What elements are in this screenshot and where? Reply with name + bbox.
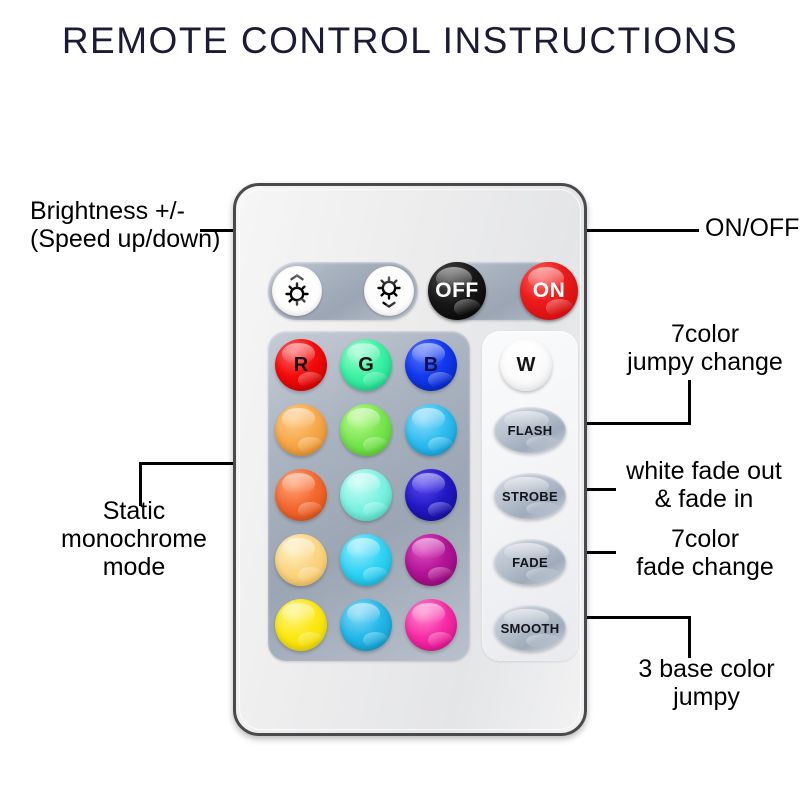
power-keypad: OFF ON	[428, 262, 578, 320]
leader-smooth-vertical	[688, 616, 691, 658]
sun-up-icon	[280, 273, 314, 309]
color-button-azure[interactable]	[405, 404, 457, 456]
color-button-b[interactable]: B	[405, 339, 457, 391]
color-button-g-label: G	[358, 354, 374, 377]
mode-keypad: W FLASH STROBE FADE SMOOTH	[482, 331, 578, 661]
color-button-yellow[interactable]	[275, 599, 327, 651]
leader-flash-vertical	[688, 380, 691, 425]
annotation-strobe: white fade out & fade in	[608, 457, 800, 513]
smooth-button[interactable]: SMOOTH	[494, 605, 566, 651]
remote-control-body: OFF ON R G B	[233, 183, 587, 736]
color-button-light-cyan[interactable]	[340, 469, 392, 521]
color-button-cyan[interactable]	[340, 534, 392, 586]
off-button[interactable]: OFF	[428, 262, 486, 320]
annotation-brightness: Brightness +/- (Speed up/down)	[30, 197, 260, 253]
annotation-fade: 7color fade change	[610, 525, 800, 581]
color-button-orange[interactable]	[275, 404, 327, 456]
smooth-button-label: SMOOTH	[501, 621, 560, 636]
annotation-smooth: 3 base color jumpy	[613, 655, 800, 711]
color-button-light-green[interactable]	[340, 404, 392, 456]
color-keypad: R G B	[268, 331, 470, 661]
annotation-static-mode: Static monochrome mode	[28, 497, 240, 581]
annotation-flash: 7color jumpy change	[610, 320, 800, 376]
color-button-magenta[interactable]	[405, 534, 457, 586]
strobe-button-label: STROBE	[502, 489, 558, 504]
flash-button[interactable]: FLASH	[494, 407, 566, 453]
instruction-diagram: REMOTE CONTROL INSTRUCTIONS Brightness +…	[0, 0, 800, 800]
brightness-up-button[interactable]	[272, 266, 322, 316]
color-button-w-label: W	[517, 354, 536, 377]
on-button-label: ON	[533, 279, 566, 303]
color-button-r-label: R	[294, 354, 308, 377]
brightness-down-button[interactable]	[364, 266, 414, 316]
strobe-button[interactable]: STROBE	[494, 473, 566, 519]
color-button-dark-blue[interactable]	[405, 469, 457, 521]
brightness-keypad	[268, 262, 418, 320]
off-button-label: OFF	[435, 279, 479, 303]
flash-button-label: FLASH	[508, 423, 553, 438]
color-button-b-label: B	[424, 354, 438, 377]
on-button[interactable]: ON	[520, 262, 578, 320]
color-button-sky-blue[interactable]	[340, 599, 392, 651]
color-button-pink[interactable]	[405, 599, 457, 651]
color-button-w[interactable]: W	[500, 339, 552, 391]
color-button-pale-yellow[interactable]	[275, 534, 327, 586]
color-button-orange-red[interactable]	[275, 469, 327, 521]
annotation-on-off: ON/OFF	[705, 214, 800, 242]
fade-button-label: FADE	[512, 555, 548, 570]
fade-button[interactable]: FADE	[494, 539, 566, 585]
page-title: REMOTE CONTROL INSTRUCTIONS	[0, 20, 800, 62]
color-button-r[interactable]: R	[275, 339, 327, 391]
color-button-g[interactable]: G	[340, 339, 392, 391]
sun-down-icon	[372, 273, 406, 309]
